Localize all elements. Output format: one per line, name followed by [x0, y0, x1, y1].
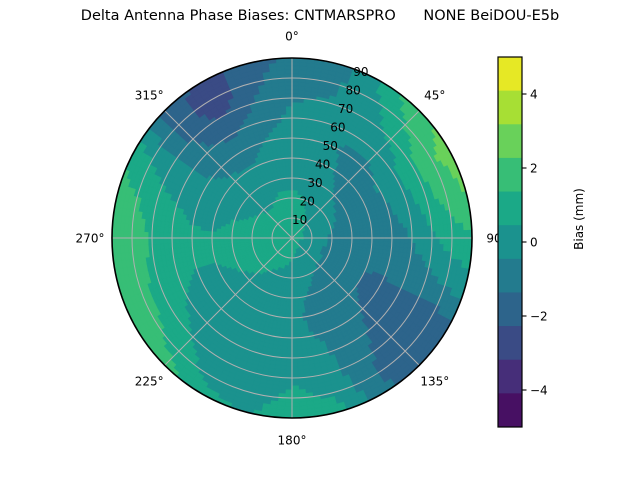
- radial-tick-label: 20: [300, 195, 315, 209]
- radial-tick-label: 90: [353, 65, 368, 79]
- colorbar-tick-label: 4: [530, 87, 538, 101]
- polar-grid: [112, 58, 472, 418]
- colorbar-tick-label: 2: [530, 161, 538, 175]
- radial-tick-label: 60: [330, 121, 345, 135]
- colorbar-tick-label: 0: [530, 235, 538, 249]
- angular-tick-label: 0°: [285, 30, 299, 44]
- colorbar-axis-label: Bias (mm): [572, 188, 586, 250]
- colorbar[interactable]: 420−2−4: [498, 57, 548, 428]
- colorbar-band: [498, 225, 522, 259]
- colorbar-band: [498, 91, 522, 125]
- colorbar-band: [498, 326, 522, 360]
- radial-tick-label: 30: [307, 176, 322, 190]
- angular-tick-label: 315°: [135, 89, 164, 103]
- angular-tick-label: 270°: [76, 232, 105, 246]
- radial-tick-label: 40: [315, 158, 330, 172]
- radial-tick-label: 70: [338, 102, 353, 116]
- colorbar-band: [498, 57, 522, 91]
- radial-tick-label: 50: [323, 139, 338, 153]
- colorbar-band: [498, 292, 522, 326]
- radial-tick-label: 80: [346, 84, 361, 98]
- colorbar-band: [498, 158, 522, 192]
- colorbar-band: [498, 393, 522, 427]
- angular-tick-label: 135°: [420, 374, 449, 388]
- angular-tick-label: 180°: [278, 434, 307, 448]
- figure-canvas: Delta Antenna Phase Biases: CNTMARSPRO N…: [0, 0, 640, 480]
- figure-title: Delta Antenna Phase Biases: CNTMARSPRO N…: [0, 8, 640, 24]
- colorbar-band: [498, 124, 522, 158]
- colorbar-tick-label: −4: [530, 383, 548, 397]
- radial-tick-label: 10: [292, 213, 307, 227]
- colorbar-band: [498, 192, 522, 226]
- polar-contour-plot: 0°45°90135°180°225°270°315° 102030405060…: [0, 0, 640, 480]
- colorbar-band: [498, 360, 522, 394]
- colorbar-band: [498, 259, 522, 293]
- angular-tick-label: 45°: [424, 89, 445, 103]
- angular-tick-label: 225°: [135, 374, 164, 388]
- colorbar-tick-label: −2: [530, 309, 548, 323]
